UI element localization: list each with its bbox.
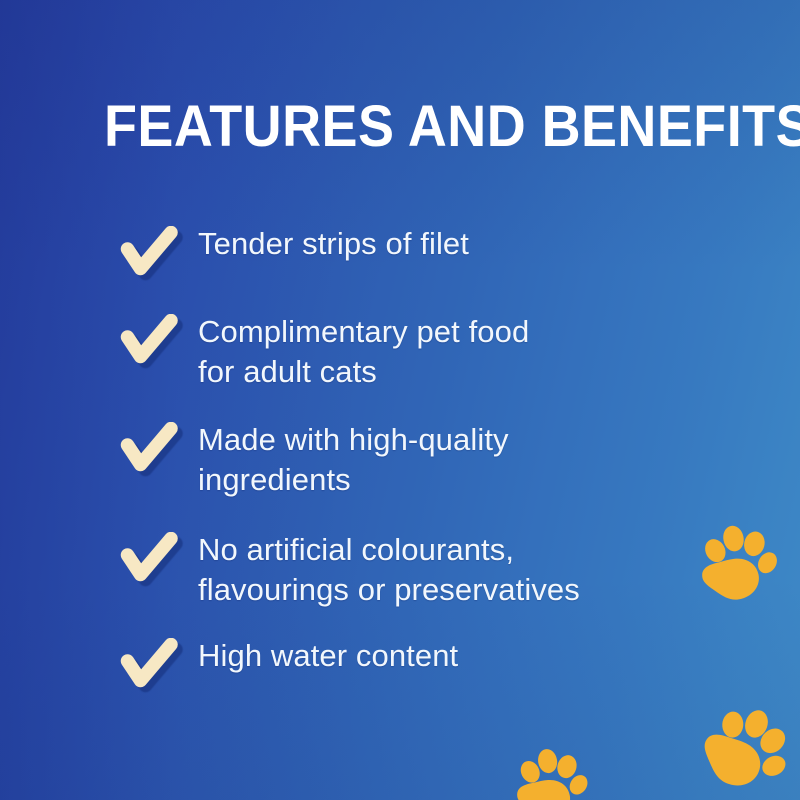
check-icon <box>120 226 178 280</box>
list-item-label: No artificial colourants, flavourings or… <box>198 528 760 610</box>
check-icon <box>120 532 178 586</box>
features-benefits-poster: FEATURES AND BENEFITS Tender strips of f… <box>0 0 800 800</box>
page-title: FEATURES AND BENEFITS <box>104 96 800 158</box>
paw-print-icon <box>679 683 800 800</box>
list-item-label: Complimentary pet food for adult cats <box>198 310 760 392</box>
paw-print-icon <box>505 739 597 800</box>
benefits-list: Tender strips of filet Complimentary pet… <box>120 222 760 692</box>
list-item: Made with high-quality ingredients <box>120 418 760 500</box>
list-item-label: Made with high-quality ingredients <box>198 418 760 500</box>
list-item-label: Tender strips of filet <box>198 222 760 264</box>
list-item: High water content <box>120 634 760 692</box>
check-icon <box>120 314 178 368</box>
list-item: Tender strips of filet <box>120 222 760 280</box>
check-icon <box>120 638 178 692</box>
list-item-label: High water content <box>198 634 760 676</box>
list-item: No artificial colourants, flavourings or… <box>120 528 760 610</box>
list-item: Complimentary pet food for adult cats <box>120 310 760 392</box>
check-icon <box>120 422 178 476</box>
